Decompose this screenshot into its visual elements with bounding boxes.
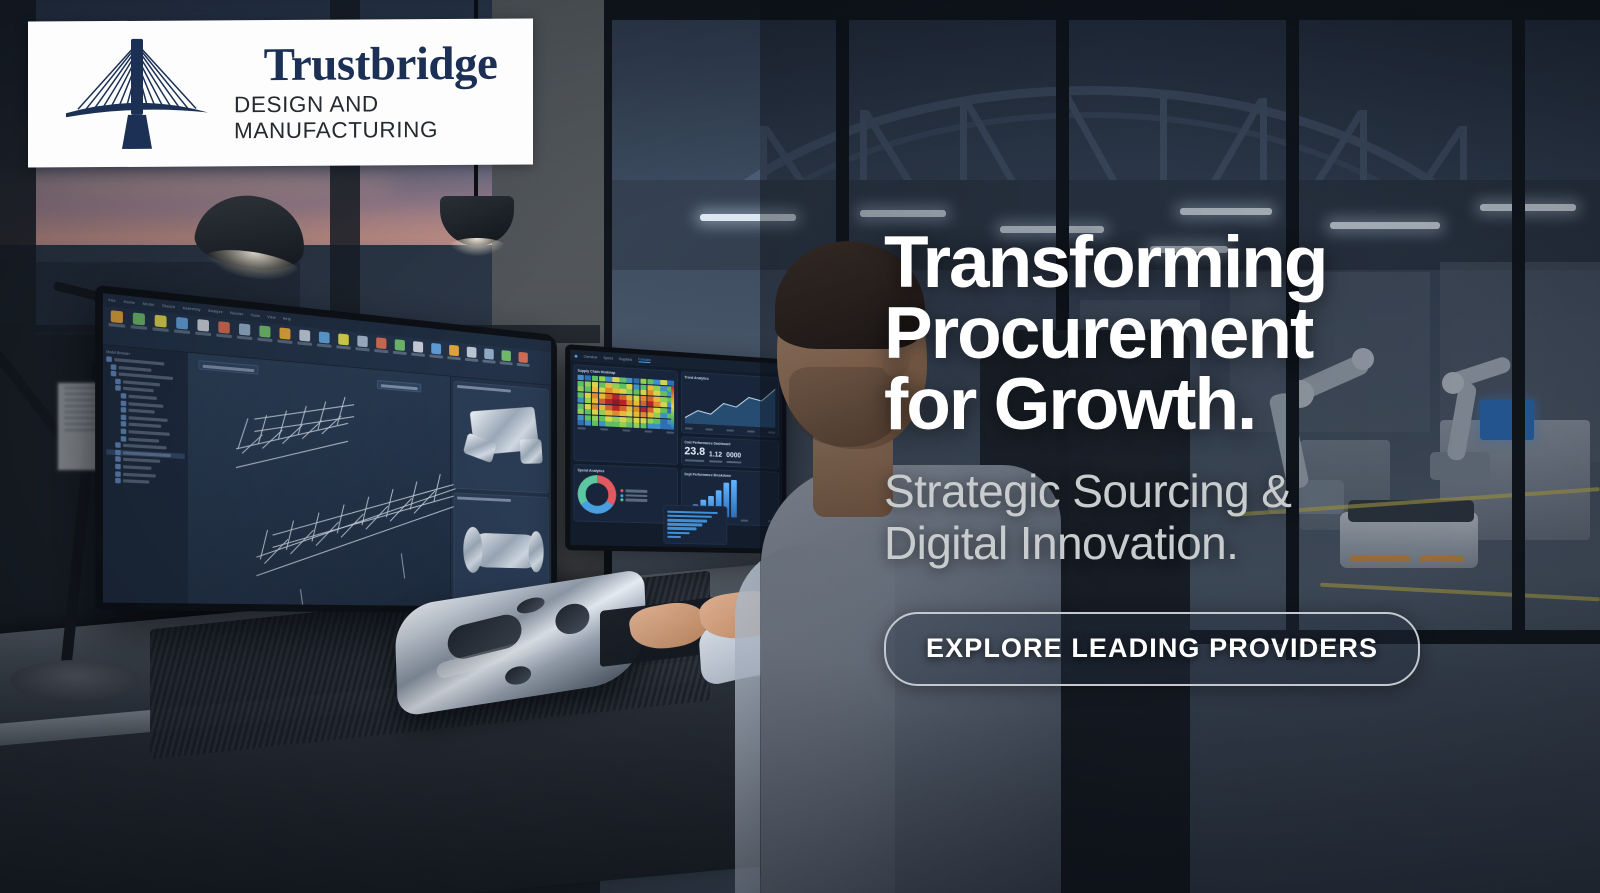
- cable-stayed-bridge-icon: [62, 34, 212, 153]
- subheadline-line-1: Strategic Sourcing &: [884, 466, 1484, 518]
- headline-line-2: Procurement: [884, 299, 1484, 370]
- hero-copy: Transforming Procurement for Growth. Str…: [884, 228, 1484, 686]
- hero-banner: File Home Model Sketch Assembly Analyze …: [0, 0, 1600, 893]
- subheadline-line-2: Digital Innovation.: [884, 518, 1484, 570]
- page-title: Transforming Procurement for Growth.: [884, 228, 1484, 440]
- brand-logo[interactable]: Trustbridge DESIGN AND MANUFACTURING: [28, 18, 533, 167]
- headline-line-1: Transforming: [884, 228, 1484, 299]
- brand-tagline: DESIGN AND MANUFACTURING: [234, 90, 527, 144]
- explore-leading-providers-button[interactable]: EXPLORE LEADING PROVIDERS: [884, 612, 1420, 686]
- hero-subtitle: Strategic Sourcing & Digital Innovation.: [884, 466, 1484, 570]
- headline-line-3: for Growth.: [884, 370, 1484, 441]
- brand-name: Trustbridge: [264, 41, 498, 89]
